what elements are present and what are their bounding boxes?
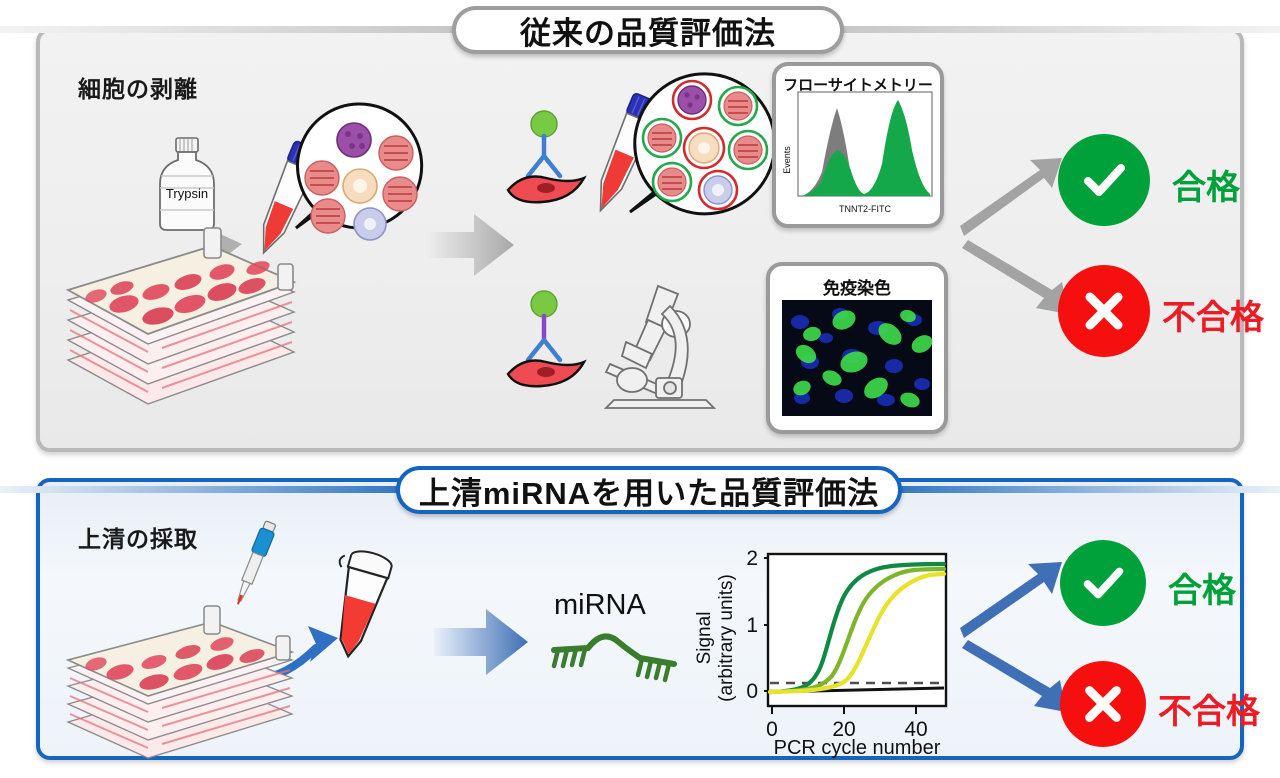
bottom-result-arrows [958,548,1070,724]
pipette-icon [226,518,284,614]
top-process-arrow [424,212,516,278]
supernatant-tube [318,548,404,668]
trypsin-label: Trypsin [166,186,208,201]
mirna-method-title: 上清miRNAを用いた品質評価法 [396,466,902,514]
conventional-method-title: 従来の品質評価法 [452,6,844,54]
bottom-title-rule-left [0,486,412,493]
immunostaining-title: 免疫染色 [770,274,944,299]
check-circle-icon-bottom [1060,540,1146,626]
cross-circle-icon-bottom [1060,661,1146,747]
supernatant-collection-label: 上清の採取 [78,520,198,554]
mirna-label: miRNA [554,589,646,622]
qpcr-x-axis-label: PCR cycle number [774,737,941,759]
labeled-cell-population-bubble [626,70,778,230]
qpcr-ytick-1: 1 [746,614,758,637]
cross-circle-icon-top [1058,265,1150,357]
antibody-labeled-cell-ihc [498,290,594,390]
pass-label-top: 合格 [1172,160,1240,209]
cell-culture-stack-bottom [62,622,298,758]
qpcr-amplification-chart: Signal (arbitrary units) 2 1 0 0 20 40 P… [692,540,950,756]
mirna-molecule-icon [548,624,680,682]
qpcr-y-axis-label-line2: (arbitrary units) [716,574,737,702]
fcm-x-axis-label: TNNT2-FITC [839,204,891,214]
flow-cytometry-histogram: Events TNNT2-FITC [780,88,938,220]
top-title-rule-right [828,26,1280,33]
mixed-cell-population-bubble [292,98,432,248]
qpcr-ytick-0: 0 [746,680,758,703]
antibody-labeled-cell-fcm [498,110,594,206]
fail-label-bottom: 不合格 [1158,684,1260,733]
fcm-y-axis-label: Events [782,146,792,174]
figure-canvas: 従来の品質評価法 細胞の剥離 Trypsin [0,0,1280,778]
immunofluorescence-image [782,300,932,416]
qpcr-ytick-2: 2 [746,547,758,570]
qpcr-y-axis-label-line1: Signal [694,612,715,665]
pass-label-bottom: 合格 [1168,563,1236,612]
bottom-process-arrow [434,606,530,678]
cell-detachment-label: 細胞の剥離 [78,70,198,104]
top-title-rule-left [0,26,470,33]
microscope-icon [596,284,728,408]
top-result-arrows [958,140,1070,332]
check-circle-icon-top [1058,134,1150,226]
bottom-title-rule-right [886,486,1280,493]
fail-label-top: 不合格 [1162,290,1264,339]
